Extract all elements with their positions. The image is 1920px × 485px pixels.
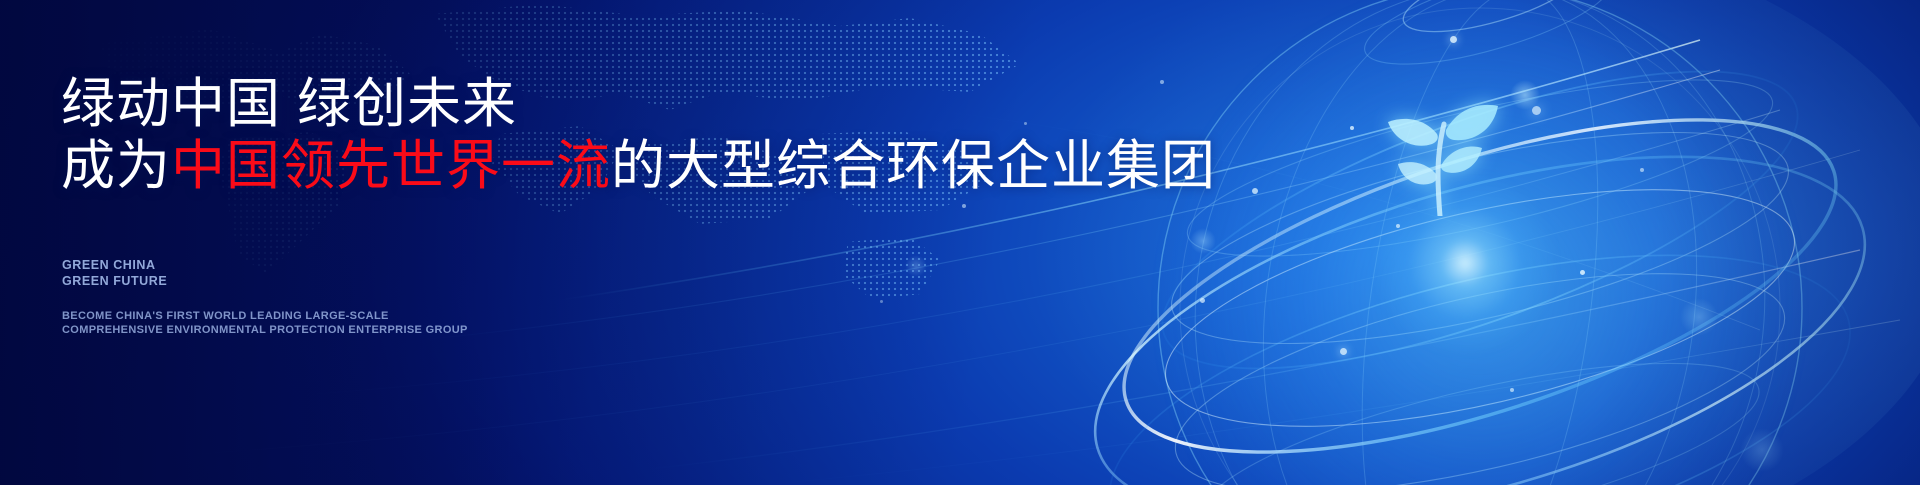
headline: 绿动中国 绿创未来 成为中国领先世界一流的大型综合环保企业集团 <box>61 75 1216 195</box>
headline-line-2-highlight: 中国领先世界一流 <box>171 136 611 196</box>
headline-line-2-prefix: 成为 <box>61 136 171 196</box>
subline: BECOME CHINA'S FIRST WORLD LEADING LARGE… <box>62 310 468 337</box>
hero-banner: 绿动中国 绿创未来 成为中国领先世界一流的大型综合环保企业集团 GREEN CH… <box>0 0 1920 485</box>
headline-line-2: 成为中国领先世界一流的大型综合环保企业集团 <box>61 137 1216 195</box>
tagline: GREEN CHINA GREEN FUTURE <box>62 258 167 289</box>
tagline-line-2: GREEN FUTURE <box>62 274 167 290</box>
copy-block: 绿动中国 绿创未来 成为中国领先世界一流的大型综合环保企业集团 GREEN CH… <box>61 0 1061 485</box>
subline-line-1: BECOME CHINA'S FIRST WORLD LEADING LARGE… <box>62 310 468 324</box>
headline-line-1: 绿动中国 绿创未来 <box>61 75 1216 133</box>
subline-line-2: COMPREHENSIVE ENVIRONMENTAL PROTECTION E… <box>62 324 468 338</box>
headline-line-2-suffix: 的大型综合环保企业集团 <box>611 136 1216 196</box>
tagline-line-1: GREEN CHINA <box>62 258 167 274</box>
